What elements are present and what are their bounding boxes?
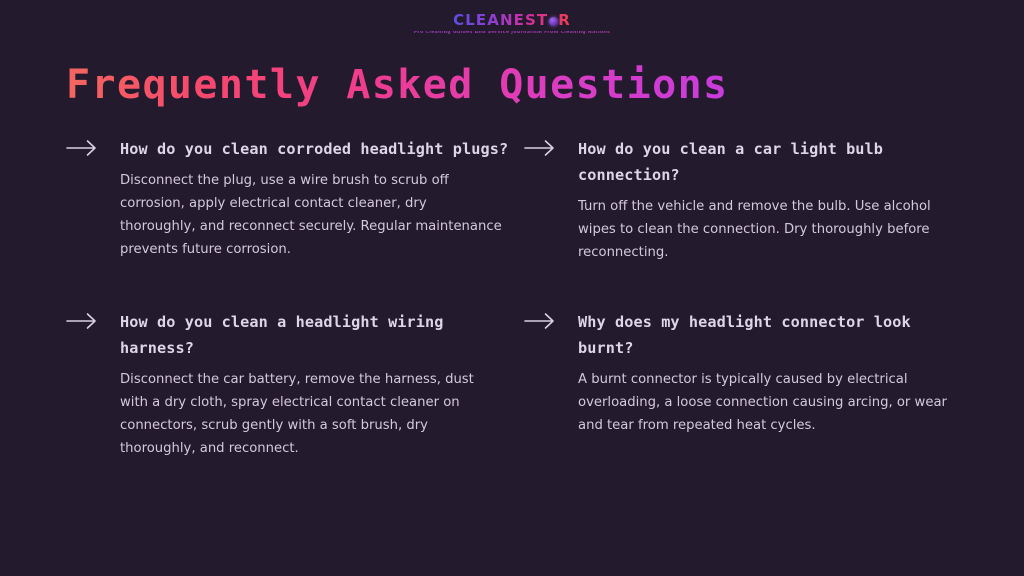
brand-wordmark: CLEANESTR [453,13,571,28]
brand-name-suffix: R [558,11,571,29]
faq-answer: Disconnect the plug, use a wire brush to… [120,170,505,261]
faq-body: How do you clean corroded headlight plug… [120,136,524,261]
brand-name-text: CLEANEST [453,11,548,29]
faq-body: Why does my headlight connector look bur… [578,309,972,438]
faq-answer: A burnt connector is typically caused by… [578,369,960,437]
faq-item[interactable]: How do you clean corroded headlight plug… [66,136,524,265]
page-title: Frequently Asked Questions [66,62,729,108]
faq-question[interactable]: Why does my headlight connector look bur… [578,309,972,361]
faq-body: How do you clean a headlight wiring harn… [120,309,524,461]
arrow-right-icon [524,309,578,330]
faq-item[interactable]: How do you clean a headlight wiring harn… [66,309,524,461]
site-logo[interactable]: CLEANESTR Pro Cleaning Guides And Servic… [0,12,1024,36]
brand-tagline: Pro Cleaning Guides And Service Journali… [0,31,1024,36]
faq-item[interactable]: Why does my headlight connector look bur… [524,309,972,461]
faq-answer: Turn off the vehicle and remove the bulb… [578,196,960,264]
arrow-right-icon [66,309,120,330]
faq-item[interactable]: How do you clean a car light bulb connec… [524,136,972,265]
faq-list: How do you clean corroded headlight plug… [66,136,972,460]
faq-answer: Disconnect the car battery, remove the h… [120,369,505,460]
arrow-right-icon [66,136,120,157]
faq-question[interactable]: How do you clean corroded headlight plug… [120,136,524,162]
arrow-right-icon [524,136,578,157]
faq-question[interactable]: How do you clean a headlight wiring harn… [120,309,524,361]
faq-body: How do you clean a car light bulb connec… [578,136,972,265]
faq-question[interactable]: How do you clean a car light bulb connec… [578,136,972,188]
globe-orb-icon [549,17,558,26]
